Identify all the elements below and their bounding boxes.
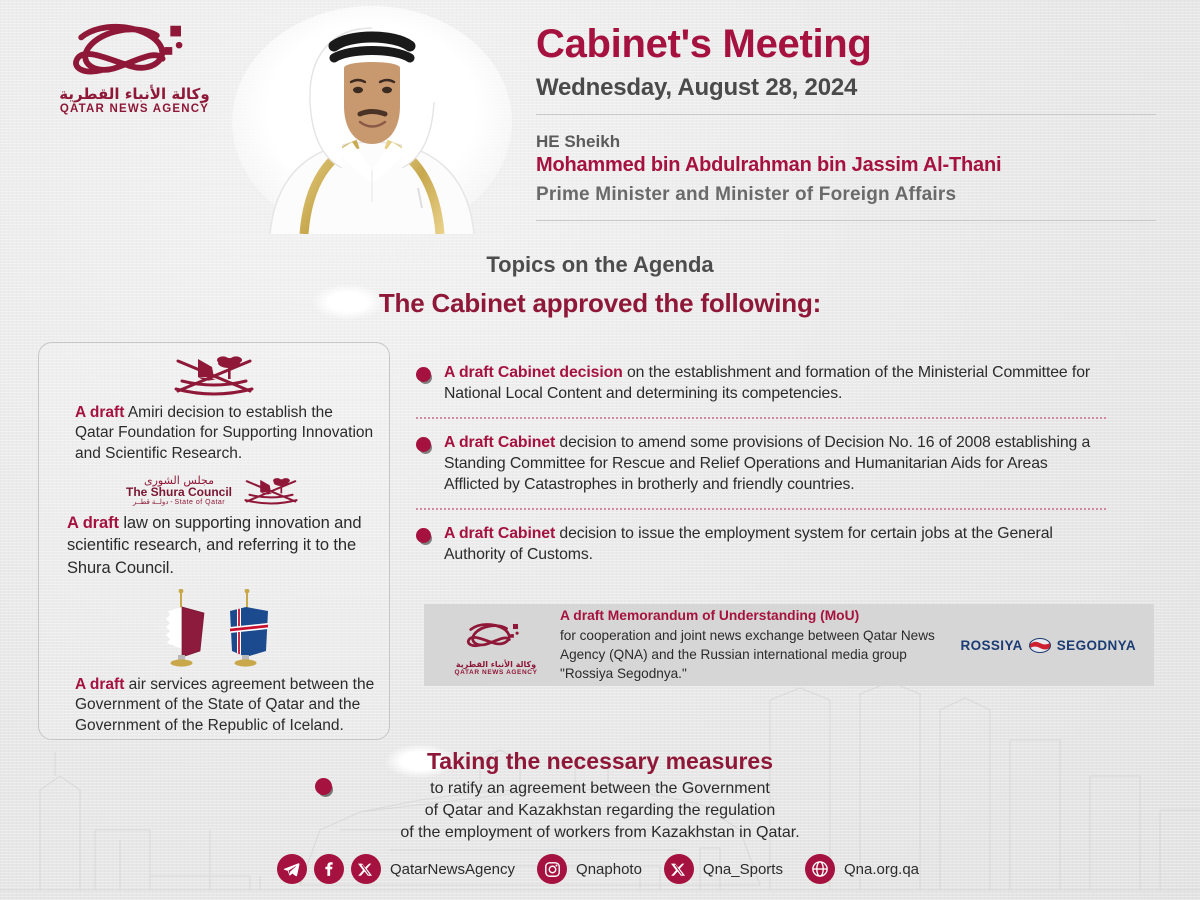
facebook-icon[interactable] xyxy=(314,854,344,884)
x-twitter-icon[interactable] xyxy=(664,854,694,884)
qna-logo-english: QATAR NEWS AGENCY xyxy=(52,103,217,117)
bullet-divider xyxy=(416,417,1106,419)
qna-atom-logo-icon xyxy=(52,18,217,80)
rossiya-segodnya-globe-icon xyxy=(1029,638,1051,653)
measures-line-2: of Qatar and Kazakhstan regarding the re… xyxy=(0,800,1200,822)
left-items-card: A draft Amiri decision to establish the … xyxy=(38,342,390,740)
mou-text: A draft Memorandum of Understanding (MoU… xyxy=(554,606,960,683)
social-group-main: QatarNewsAgency xyxy=(277,854,519,884)
rossiya-segodnya-logo: ROSSIYA SEGODNYA xyxy=(960,638,1140,653)
bullet-dot-icon xyxy=(416,437,431,452)
qna-atom-logo-icon xyxy=(457,615,535,655)
shura-council-subtitle: دولــة قطــر - State of Qatar xyxy=(126,499,232,506)
page-title: Cabinet's Meeting xyxy=(536,24,1176,64)
list-item: A draft Cabinet decision on the establis… xyxy=(416,362,1106,404)
qna-logo-english: QATAR NEWS AGENCY xyxy=(438,669,554,676)
bullet-divider xyxy=(416,508,1106,510)
divider-bottom xyxy=(536,220,1156,221)
social-group-sports: Qna_Sports xyxy=(664,854,787,884)
instagram-icon[interactable] xyxy=(537,854,567,884)
social-handle-main[interactable]: QatarNewsAgency xyxy=(390,861,515,878)
honorific: HE Sheikh xyxy=(536,131,1176,152)
social-footer: QatarNewsAgency Qnaphoto Qna_Sports Qna.… xyxy=(0,848,1200,890)
mou-panel: وكالة الأنباء القطرية QATAR NEWS AGENCY … xyxy=(424,604,1154,686)
header: وكالة الأنباء القطرية QATAR NEWS AGENCY xyxy=(0,0,1200,236)
shura-council-english: The Shura Council xyxy=(126,486,232,499)
bullet-1-text: A draft Cabinet decision on the establis… xyxy=(444,362,1106,404)
qna-logo-arabic: وكالة الأنباء القطرية xyxy=(438,660,554,669)
globe-icon[interactable] xyxy=(805,854,835,884)
qatar-iceland-flags xyxy=(53,589,375,667)
portrait-of-prime-minister xyxy=(222,2,522,234)
header-text-block: Cabinet's Meeting Wednesday, August 28, … xyxy=(536,24,1176,221)
social-handle-sports[interactable]: Qna_Sports xyxy=(703,861,783,878)
telegram-icon[interactable] xyxy=(277,854,307,884)
bullet-3-lead: A draft Cabinet xyxy=(444,525,555,542)
bullet-dot-icon xyxy=(416,367,431,382)
bullet-3-text: A draft Cabinet decision to issue the em… xyxy=(444,523,1106,565)
social-handle-photo[interactable]: Qnaphoto xyxy=(576,861,642,878)
qatar-state-emblem-icon xyxy=(168,351,260,397)
mou-lead: A draft Memorandum of Understanding (MoU… xyxy=(560,608,859,623)
bullet-2-lead: A draft Cabinet xyxy=(444,434,555,451)
divider-top xyxy=(536,114,1156,115)
left-item-2-text: A draft law on supporting innovation and… xyxy=(53,512,375,578)
qatar-state-emblem-icon xyxy=(240,474,302,506)
social-group-photo: Qnaphoto xyxy=(537,854,646,884)
qna-logo-small: وكالة الأنباء القطرية QATAR NEWS AGENCY xyxy=(438,615,554,676)
heading-glow xyxy=(312,284,384,320)
qatar-flag-icon xyxy=(156,589,208,667)
list-item: A draft Cabinet decision to amend some p… xyxy=(416,432,1106,495)
agenda-section-title: Topics on the Agenda xyxy=(0,252,1200,278)
measures-line-1: to ratify an agreement between the Gover… xyxy=(0,778,1200,800)
official-name: Mohammed bin Abdulrahman bin Jassim Al-T… xyxy=(536,152,1176,178)
measures-title: Taking the necessary measures xyxy=(427,748,773,775)
social-group-web: Qna.org.qa xyxy=(805,854,923,884)
measures-line-3: of the employment of workers from Kazakh… xyxy=(0,822,1200,844)
left-item-3-text: A draft air services agreement between t… xyxy=(53,675,375,736)
infographic-page: وكالة الأنباء القطرية QATAR NEWS AGENCY xyxy=(0,0,1200,900)
social-handle-web[interactable]: Qna.org.qa xyxy=(844,861,919,878)
list-item: A draft Cabinet decision to issue the em… xyxy=(416,523,1106,565)
left-item-1-lead: A draft xyxy=(75,404,124,421)
iceland-flag-icon xyxy=(220,589,272,667)
bullet-dot-icon xyxy=(416,528,431,543)
bullet-2-text: A draft Cabinet decision to amend some p… xyxy=(444,432,1106,495)
shura-council-wordmark: مجلس الشورى The Shura Council دولــة قطـ… xyxy=(126,475,232,506)
measures-heading-wrap: Taking the necessary measures xyxy=(0,748,1200,775)
bullet-1-lead: A draft Cabinet decision xyxy=(444,364,623,381)
approved-heading-wrap: The Cabinet approved the following: xyxy=(0,288,1200,319)
left-item-3-lead: A draft xyxy=(75,676,124,693)
official-role: Prime Minister and Minister of Foreign A… xyxy=(536,184,1176,206)
approved-bullet-list: A draft Cabinet decision on the establis… xyxy=(416,362,1106,565)
mou-body: for cooperation and joint news exchange … xyxy=(560,628,935,682)
qna-logo-arabic: وكالة الأنباء القطرية xyxy=(52,86,217,103)
meeting-date: Wednesday, August 28, 2024 xyxy=(536,74,1176,102)
qna-logo: وكالة الأنباء القطرية QATAR NEWS AGENCY xyxy=(52,18,217,118)
rossiya-wordmark-left: ROSSIYA xyxy=(960,638,1022,653)
shura-council-logo: مجلس الشورى The Shura Council دولــة قطـ… xyxy=(53,474,375,506)
measures-body: to ratify an agreement between the Gover… xyxy=(0,778,1200,843)
left-item-2-lead: A draft xyxy=(67,514,119,532)
rossiya-wordmark-right: SEGODNYA xyxy=(1057,638,1136,653)
left-item-1-text: A draft Amiri decision to establish the … xyxy=(53,403,375,464)
x-twitter-icon[interactable] xyxy=(351,854,381,884)
approved-heading: The Cabinet approved the following: xyxy=(379,288,821,319)
